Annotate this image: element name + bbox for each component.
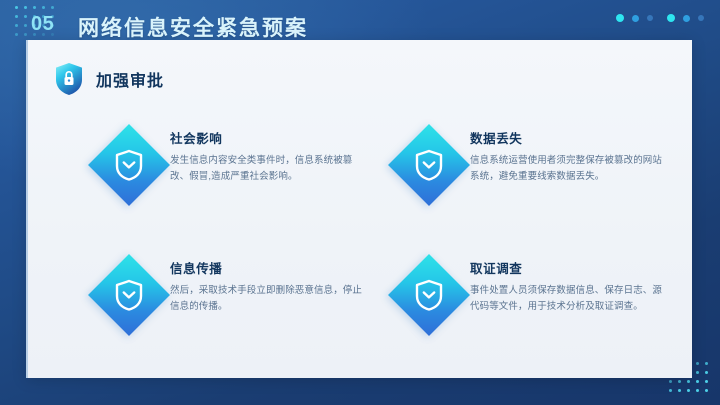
list-item[interactable]: 信息传播 然后，采取技术手段立即删除恶意信息，停止信息的传播。 [88,252,388,382]
item-text-block: 取证调查 事件处置人员须保存数据信息、保存日志、源代码等文件，用于技术分析及取证… [470,252,666,316]
header-dot-decoration [616,14,704,22]
shield-check-diamond-icon [388,254,470,336]
header-dot-group [616,14,653,22]
dot-icon [696,362,699,365]
item-title: 社会影响 [170,128,366,147]
page-title: 网络信息安全紧急预案 [78,12,308,42]
shield-check-diamond-icon [88,254,170,336]
item-description: 信息系统运营使用者须完整保存被篡改的网站系统，避免重要线索数据丢失。 [470,153,666,186]
item-text-block: 信息传播 然后，采取技术手段立即删除恶意信息，停止信息的传播。 [170,252,366,316]
item-title: 信息传播 [170,258,366,277]
dot-medium-icon [632,15,639,22]
dot-medium-icon [683,15,690,22]
shield-check-diamond-icon [88,124,170,206]
item-description: 事件处置人员须保存数据信息、保存日志、源代码等文件，用于技术分析及取证调查。 [470,283,666,316]
section-title: 加强审批 [96,67,164,91]
item-text-block: 数据丢失 信息系统运营使用者须完整保存被篡改的网站系统，避免重要线索数据丢失。 [470,122,666,186]
dot-faded-icon [647,15,653,21]
shield-lock-icon [54,62,84,96]
content-card: 加强审批 社会影响 发生信息内容安全类事件时，信息系统被篡改、假冒,造成严重社会… [26,40,692,378]
dot-icon [696,389,699,392]
dot-bright-icon [616,14,624,22]
shield-check-diamond-icon [388,124,470,206]
dot-icon [705,371,708,374]
slide-number: 05 [31,13,54,36]
slide-canvas: 05 网络信息安全紧急预案 [0,0,720,405]
slide-header: 05 网络信息安全紧急预案 [0,0,720,42]
item-text-block: 社会影响 发生信息内容安全类事件时，信息系统被篡改、假冒,造成严重社会影响。 [170,122,366,186]
item-title: 数据丢失 [470,128,666,147]
dot-icon [696,380,699,383]
dot-icon [705,380,708,383]
dot-icon [687,389,690,392]
list-item[interactable]: 数据丢失 信息系统运营使用者须完整保存被篡改的网站系统，避免重要线索数据丢失。 [388,122,688,252]
header-dot-group [667,14,704,22]
item-description: 然后，采取技术手段立即删除恶意信息，停止信息的传播。 [170,283,366,316]
dot-icon [705,362,708,365]
items-grid: 社会影响 发生信息内容安全类事件时，信息系统被篡改、假冒,造成严重社会影响。 数… [88,122,688,382]
item-title: 取证调查 [470,258,666,277]
section-heading: 加强审批 [54,62,164,96]
dot-icon [669,389,672,392]
list-item[interactable]: 取证调查 事件处置人员须保存数据信息、保存日志、源代码等文件，用于技术分析及取证… [388,252,688,382]
dot-bright-icon [667,14,675,22]
dot-icon [705,389,708,392]
dot-icon [696,371,699,374]
list-item[interactable]: 社会影响 发生信息内容安全类事件时，信息系统被篡改、假冒,造成严重社会影响。 [88,122,388,252]
dot-icon [678,389,681,392]
dot-faded-icon [698,15,704,21]
item-description: 发生信息内容安全类事件时，信息系统被篡改、假冒,造成严重社会影响。 [170,153,366,186]
